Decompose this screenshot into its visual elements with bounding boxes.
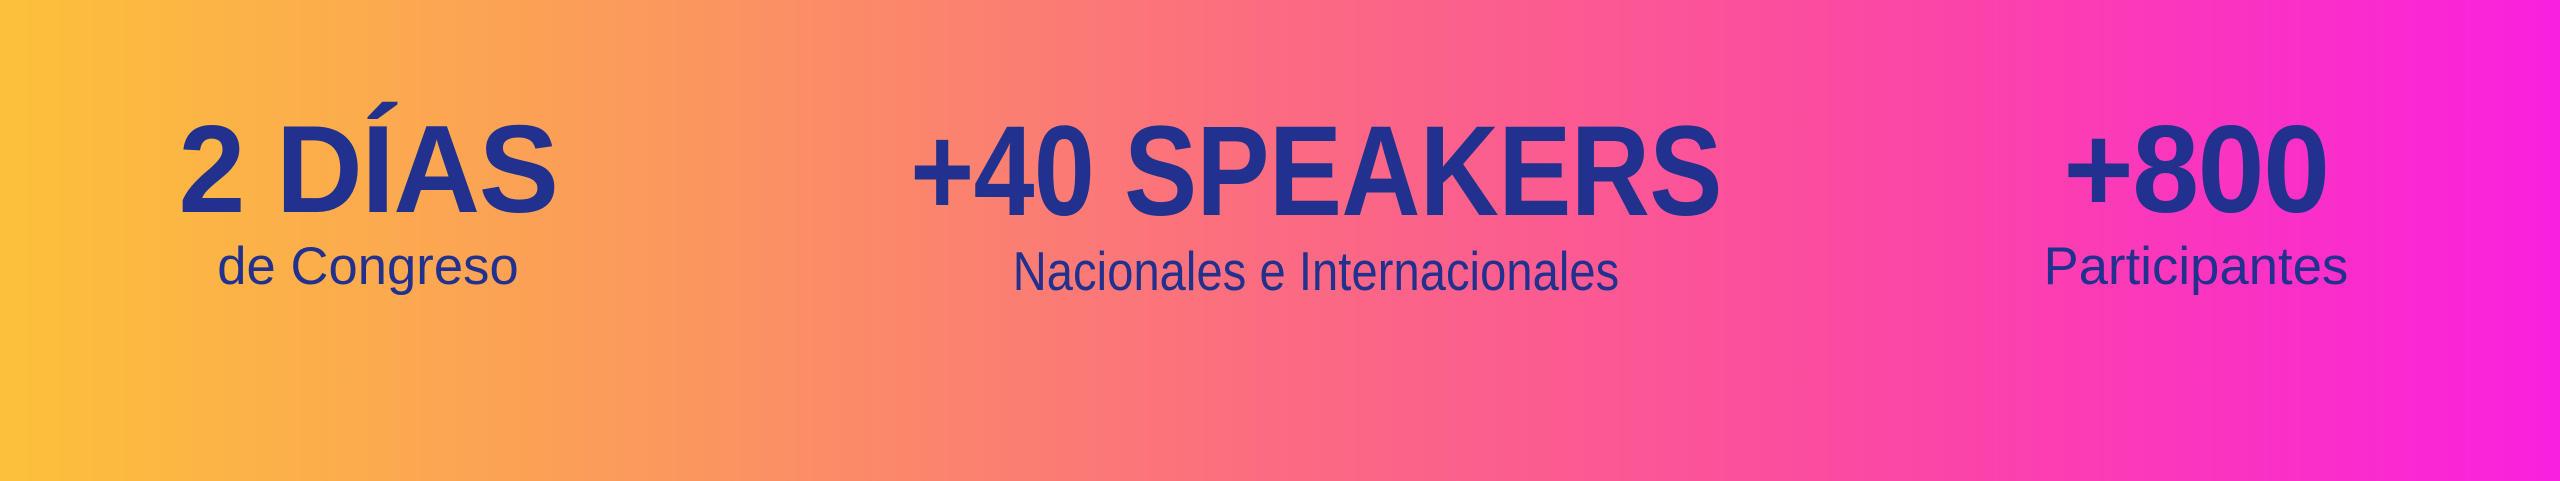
stat-block-speakers: +40 SPEAKERS Nacionales e Internacionale… (760, 108, 1872, 299)
stat-block-days: 2 DÍAS de Congreso (96, 108, 640, 293)
stat-block-participants: +800 Participantes (1950, 108, 2442, 293)
stats-banner: 2 DÍAS de Congreso +40 SPEAKERS Nacional… (0, 0, 2560, 481)
stat-speakers-number: +40 SPEAKERS (841, 108, 1792, 236)
stat-days-number: 2 DÍAS (104, 108, 632, 232)
stat-days-label: de Congreso (99, 240, 638, 293)
stat-speakers-label: Nacionales e Internacionales (841, 244, 1792, 299)
stat-participants-number: +800 (1957, 108, 2434, 232)
stat-participants-label: Participantes (1952, 240, 2439, 293)
